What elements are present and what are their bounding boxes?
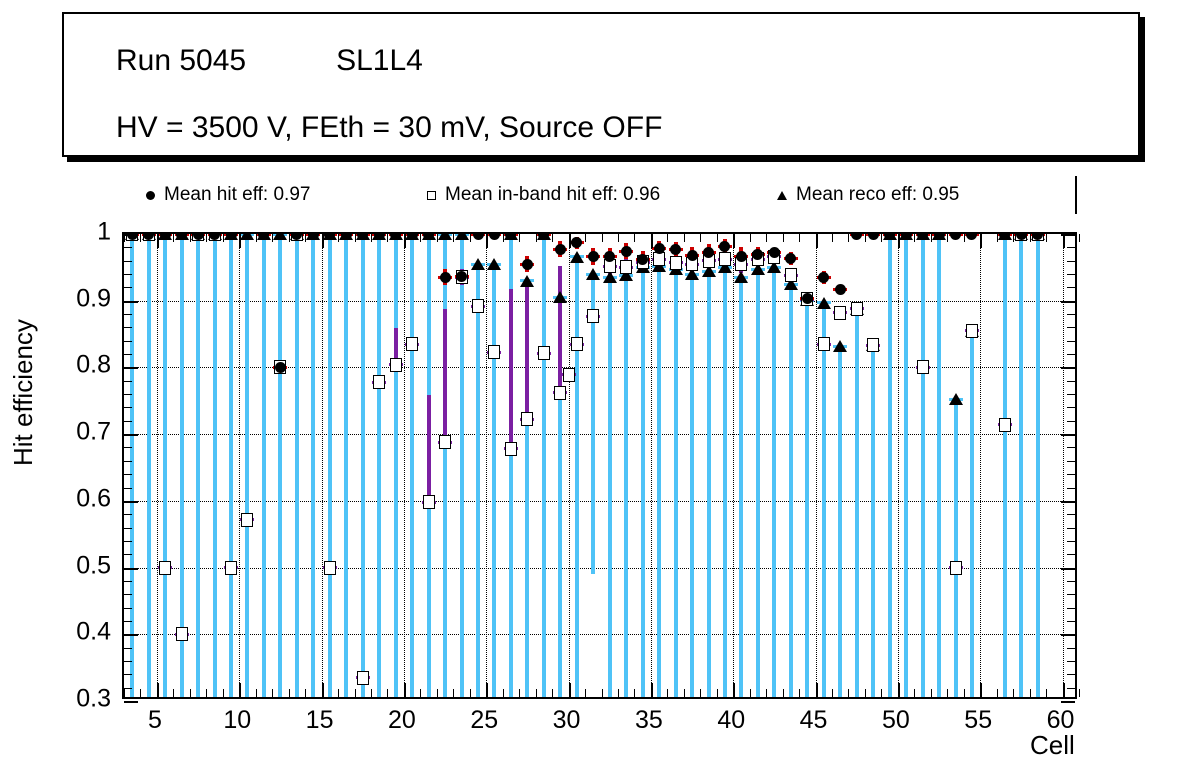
x-axis-minor-tick bbox=[1046, 689, 1047, 697]
x-axis-tick bbox=[651, 683, 653, 697]
error-bar-vertical bbox=[130, 234, 134, 697]
data-point-hit-eff bbox=[193, 234, 204, 240]
error-bar-vertical bbox=[525, 279, 529, 419]
x-axis-minor-tick bbox=[848, 689, 849, 697]
y-tick-label: 0.9 bbox=[76, 284, 111, 313]
y-axis-minor-tick bbox=[1067, 447, 1075, 448]
data-point-hit-eff bbox=[588, 251, 599, 262]
y-axis-minor-tick bbox=[124, 488, 132, 489]
gridline-vertical bbox=[1063, 234, 1064, 697]
x-axis-tick bbox=[733, 683, 735, 697]
y-axis-tick bbox=[1061, 568, 1075, 570]
data-point-inband-eff bbox=[357, 671, 369, 685]
y-axis-minor-tick bbox=[124, 407, 132, 408]
x-axis-minor-tick bbox=[453, 689, 454, 697]
x-axis-tick bbox=[1063, 234, 1065, 248]
error-bar-vertical bbox=[937, 234, 941, 697]
x-axis-minor-tick bbox=[964, 234, 965, 242]
y-axis-minor-tick bbox=[1067, 314, 1075, 315]
data-point-inband-eff bbox=[241, 513, 253, 527]
data-point-hit-eff bbox=[226, 234, 237, 240]
x-axis-minor-tick bbox=[799, 234, 800, 242]
y-axis-minor-tick bbox=[1067, 688, 1075, 689]
y-axis-minor-tick bbox=[124, 274, 132, 275]
data-point-reco-eff bbox=[586, 268, 600, 280]
y-axis-minor-tick bbox=[124, 528, 132, 529]
data-point-hit-eff bbox=[851, 234, 862, 240]
x-axis-minor-tick bbox=[947, 689, 948, 697]
y-axis-minor-tick bbox=[124, 341, 132, 342]
gridline-horizontal bbox=[124, 501, 1075, 502]
error-bar-vertical bbox=[344, 234, 348, 697]
data-point-inband-eff bbox=[563, 368, 575, 382]
error-bar-vertical bbox=[443, 309, 447, 442]
y-axis-minor-tick bbox=[1067, 421, 1075, 422]
x-axis-minor-tick bbox=[453, 234, 454, 242]
error-bar-vertical bbox=[756, 269, 760, 697]
title-box: Run 5045SL1L4 HV = 3500 V, FEth = 30 mV,… bbox=[62, 12, 1140, 157]
data-point-hit-eff bbox=[950, 234, 961, 240]
x-axis-minor-tick bbox=[881, 689, 882, 697]
open-square-icon bbox=[419, 185, 445, 205]
data-point-inband-eff bbox=[653, 252, 665, 266]
x-axis-minor-tick bbox=[206, 689, 207, 697]
x-tick-label: 40 bbox=[717, 706, 745, 735]
data-point-reco-eff bbox=[570, 251, 584, 263]
x-axis-minor-tick bbox=[1013, 234, 1014, 242]
y-axis-tick bbox=[1061, 367, 1075, 369]
y-axis-tick bbox=[124, 634, 138, 636]
error-bar-vertical bbox=[492, 264, 496, 697]
error-bar-vertical bbox=[147, 234, 151, 697]
y-axis-minor-tick bbox=[1067, 247, 1075, 248]
y-axis-minor-tick bbox=[1067, 461, 1075, 462]
y-axis-minor-tick bbox=[1067, 474, 1075, 475]
x-axis-minor-tick bbox=[667, 689, 668, 697]
error-bar-vertical bbox=[361, 234, 365, 697]
y-axis-tick bbox=[124, 568, 138, 570]
x-axis-minor-tick bbox=[602, 234, 603, 242]
data-point-inband-eff bbox=[324, 561, 336, 575]
y-axis-minor-tick bbox=[1067, 648, 1075, 649]
y-axis-minor-tick bbox=[1067, 594, 1075, 595]
y-axis-minor-tick bbox=[1067, 394, 1075, 395]
x-axis-minor-tick bbox=[124, 234, 125, 242]
error-bar-vertical bbox=[608, 277, 612, 697]
x-axis-minor-tick bbox=[289, 234, 290, 242]
y-axis-tick bbox=[124, 501, 138, 503]
x-axis-minor-tick bbox=[355, 234, 356, 242]
x-axis-tick bbox=[239, 683, 241, 697]
x-axis-minor-tick bbox=[552, 689, 553, 697]
gridline-vertical bbox=[651, 234, 652, 697]
error-bar-vertical bbox=[542, 234, 546, 697]
y-axis-minor-tick bbox=[1067, 341, 1075, 342]
data-point-inband-eff bbox=[390, 358, 402, 372]
error-bar-vertical bbox=[674, 269, 678, 697]
x-axis-minor-tick bbox=[914, 234, 915, 242]
error-bar-vertical bbox=[921, 234, 925, 697]
x-tick-label: 45 bbox=[800, 706, 828, 735]
filled-triangle-icon bbox=[770, 185, 796, 205]
y-axis-minor-tick bbox=[1067, 528, 1075, 529]
error-bar-vertical bbox=[1003, 234, 1007, 697]
y-axis-minor-tick bbox=[124, 541, 132, 542]
y-axis-tick bbox=[1061, 434, 1075, 436]
x-axis-tick bbox=[569, 683, 571, 697]
gridline-vertical bbox=[322, 234, 323, 697]
x-axis-minor-tick bbox=[783, 234, 784, 242]
x-axis-minor-tick bbox=[519, 689, 520, 697]
legend-label-inband-eff: Mean in-band hit eff: 0.96 bbox=[445, 184, 660, 206]
y-axis-minor-tick bbox=[1067, 674, 1075, 675]
data-point-hit-eff bbox=[275, 362, 286, 373]
gridline-horizontal bbox=[124, 634, 1075, 635]
x-axis-minor-tick bbox=[585, 234, 586, 242]
x-axis-minor-tick bbox=[190, 234, 191, 242]
gridline-vertical bbox=[486, 234, 487, 697]
x-axis-minor-tick bbox=[223, 234, 224, 242]
x-axis-minor-tick bbox=[437, 234, 438, 242]
x-axis-minor-tick bbox=[470, 689, 471, 697]
data-point-hit-eff bbox=[719, 241, 730, 252]
gridline-vertical bbox=[569, 234, 570, 697]
data-point-hit-eff bbox=[621, 246, 632, 257]
gridline-vertical bbox=[733, 234, 734, 697]
x-axis-tick bbox=[404, 683, 406, 697]
legend: Mean hit eff: 0.97 Mean in-band hit eff:… bbox=[122, 176, 1077, 214]
error-bar-vertical bbox=[229, 234, 233, 697]
data-point-inband-eff bbox=[472, 299, 484, 313]
y-axis-minor-tick bbox=[1067, 621, 1075, 622]
x-axis-minor-tick bbox=[355, 689, 356, 697]
superlayer-label: SL1L4 bbox=[336, 44, 423, 77]
gridline-horizontal bbox=[124, 434, 1075, 435]
x-axis-minor-tick bbox=[305, 689, 306, 697]
x-tick-label: 55 bbox=[964, 706, 992, 735]
data-point-inband-eff bbox=[834, 306, 846, 320]
y-tick-label: 0.6 bbox=[76, 484, 111, 513]
y-axis-minor-tick bbox=[124, 581, 132, 582]
x-axis-tick bbox=[157, 683, 159, 697]
data-point-hit-eff bbox=[440, 272, 451, 283]
y-tick-label: 0.3 bbox=[76, 685, 111, 714]
y-axis-title: Hit efficiency bbox=[8, 319, 39, 466]
x-axis-minor-tick bbox=[750, 689, 751, 697]
x-axis-minor-tick bbox=[223, 689, 224, 697]
y-axis-minor-tick bbox=[124, 514, 132, 515]
x-axis-tick bbox=[816, 234, 818, 248]
x-axis-minor-tick bbox=[437, 689, 438, 697]
y-axis-minor-tick bbox=[1067, 554, 1075, 555]
y-axis-minor-tick bbox=[124, 661, 132, 662]
y-axis-minor-tick bbox=[124, 461, 132, 462]
x-axis-minor-tick bbox=[783, 689, 784, 697]
y-axis-minor-tick bbox=[1067, 261, 1075, 262]
error-bar-vertical bbox=[805, 300, 809, 697]
run-label: Run 5045 bbox=[116, 44, 246, 77]
error-bar-vertical bbox=[772, 267, 776, 697]
plot-area bbox=[124, 234, 1075, 697]
filled-circle-icon bbox=[138, 185, 164, 205]
y-axis-minor-tick bbox=[124, 674, 132, 675]
x-axis-minor-tick bbox=[387, 689, 388, 697]
data-point-reco-eff bbox=[603, 271, 617, 283]
data-point-hit-eff bbox=[654, 243, 665, 254]
x-axis-minor-tick bbox=[1030, 234, 1031, 242]
y-axis-minor-tick bbox=[124, 314, 132, 315]
x-axis-minor-tick bbox=[931, 234, 932, 242]
data-point-hit-eff bbox=[160, 234, 171, 240]
y-axis-minor-tick bbox=[124, 247, 132, 248]
x-axis-minor-tick bbox=[717, 689, 718, 697]
x-axis-minor-tick bbox=[536, 689, 537, 697]
error-bar-vertical bbox=[295, 234, 299, 697]
plot-frame bbox=[122, 232, 1077, 699]
x-axis-tick bbox=[157, 234, 159, 248]
data-point-hit-eff bbox=[571, 237, 582, 248]
y-tick-label: 0.7 bbox=[76, 418, 111, 447]
x-axis-minor-tick bbox=[420, 234, 421, 242]
data-point-inband-eff bbox=[538, 346, 550, 360]
y-axis-minor-tick bbox=[124, 648, 132, 649]
x-axis-minor-tick bbox=[338, 234, 339, 242]
error-bar-vertical bbox=[822, 303, 826, 697]
gridline-vertical bbox=[404, 234, 405, 697]
data-point-reco-eff bbox=[240, 234, 254, 240]
error-bar-vertical bbox=[575, 257, 579, 697]
y-axis-minor-tick bbox=[1067, 274, 1075, 275]
x-axis-minor-tick bbox=[1013, 689, 1014, 697]
y-axis-minor-tick bbox=[124, 594, 132, 595]
error-bar-vertical bbox=[1036, 234, 1040, 697]
data-point-reco-eff bbox=[273, 234, 287, 240]
y-axis-minor-tick bbox=[1067, 581, 1075, 582]
error-bar-vertical bbox=[196, 234, 200, 697]
gridline-vertical bbox=[980, 234, 981, 697]
x-axis-minor-tick bbox=[256, 689, 257, 697]
data-point-hit-eff bbox=[818, 272, 829, 283]
x-axis-minor-tick bbox=[766, 689, 767, 697]
y-axis-tick bbox=[1061, 634, 1075, 636]
data-point-inband-eff bbox=[999, 418, 1011, 432]
data-point-reco-eff bbox=[487, 258, 501, 270]
y-axis-minor-tick bbox=[1067, 354, 1075, 355]
x-axis-minor-tick bbox=[667, 234, 668, 242]
x-axis-minor-tick bbox=[865, 234, 866, 242]
x-axis-minor-tick bbox=[190, 689, 191, 697]
x-axis-minor-tick bbox=[766, 234, 767, 242]
data-point-reco-eff bbox=[734, 271, 748, 283]
y-axis-tick bbox=[124, 367, 138, 369]
x-axis-minor-tick bbox=[997, 234, 998, 242]
error-bar-vertical bbox=[690, 274, 694, 697]
x-axis-minor-tick bbox=[503, 689, 504, 697]
error-bar-vertical bbox=[855, 309, 859, 697]
data-point-hit-eff bbox=[785, 253, 796, 264]
x-axis-minor-tick bbox=[700, 234, 701, 242]
data-point-reco-eff bbox=[949, 393, 963, 405]
data-point-inband-eff bbox=[488, 345, 500, 359]
y-axis-minor-tick bbox=[124, 554, 132, 555]
error-bar-vertical bbox=[723, 267, 727, 697]
x-axis-minor-tick bbox=[289, 689, 290, 697]
x-axis-minor-tick bbox=[140, 234, 141, 242]
y-axis-minor-tick bbox=[1067, 381, 1075, 382]
data-point-inband-eff bbox=[571, 337, 583, 351]
error-bar-vertical bbox=[657, 266, 661, 697]
y-tick-label: 0.4 bbox=[76, 618, 111, 647]
x-axis-tick bbox=[486, 683, 488, 697]
x-tick-label: 5 bbox=[148, 706, 162, 735]
x-axis-minor-tick bbox=[173, 234, 174, 242]
y-axis-tick bbox=[124, 234, 138, 236]
y-axis-minor-tick bbox=[124, 621, 132, 622]
data-point-inband-eff bbox=[917, 360, 929, 374]
x-axis-tick bbox=[980, 683, 982, 697]
x-axis-tick bbox=[569, 234, 571, 248]
x-axis-minor-tick bbox=[173, 689, 174, 697]
y-axis-tick bbox=[1061, 501, 1075, 503]
x-axis-minor-tick bbox=[750, 234, 751, 242]
conditions-label: HV = 3500 V, FEth = 30 mV, Source OFF bbox=[116, 111, 662, 145]
data-point-hit-eff bbox=[802, 293, 813, 304]
data-point-reco-eff bbox=[455, 234, 469, 240]
y-axis-minor-tick bbox=[1067, 661, 1075, 662]
error-bar-vertical bbox=[789, 284, 793, 697]
error-bar-vertical bbox=[427, 395, 431, 502]
data-point-hit-eff bbox=[901, 234, 912, 240]
data-point-inband-eff bbox=[950, 561, 962, 575]
x-axis-minor-tick bbox=[206, 234, 207, 242]
data-point-hit-eff bbox=[637, 254, 648, 265]
y-axis-minor-tick bbox=[124, 261, 132, 262]
data-point-inband-eff bbox=[620, 260, 632, 274]
x-axis-minor-tick bbox=[684, 689, 685, 697]
y-axis-minor-tick bbox=[124, 354, 132, 355]
data-point-inband-eff bbox=[176, 627, 188, 641]
x-tick-label: 10 bbox=[223, 706, 251, 735]
error-bar-vertical bbox=[970, 331, 974, 697]
data-point-inband-eff bbox=[439, 435, 451, 449]
x-axis-minor-tick bbox=[1079, 689, 1080, 697]
x-axis-tick bbox=[322, 683, 324, 697]
x-axis-minor-tick bbox=[1079, 234, 1080, 242]
error-bar-vertical bbox=[904, 234, 908, 697]
x-axis-minor-tick bbox=[371, 234, 372, 242]
error-bar-vertical bbox=[954, 399, 958, 697]
x-tick-label: 50 bbox=[882, 706, 910, 735]
data-point-inband-eff bbox=[587, 309, 599, 323]
data-point-inband-eff bbox=[867, 338, 879, 352]
legend-label-hit-eff: Mean hit eff: 0.97 bbox=[164, 184, 310, 206]
x-axis-tick bbox=[898, 234, 900, 248]
error-bar-vertical bbox=[443, 234, 447, 697]
error-bar-vertical bbox=[509, 289, 513, 449]
x-axis-tick bbox=[486, 234, 488, 248]
x-axis-minor-tick bbox=[602, 689, 603, 697]
error-bar-vertical bbox=[624, 275, 628, 697]
x-axis-minor-tick bbox=[832, 234, 833, 242]
error-bar-vertical bbox=[328, 234, 332, 697]
data-point-inband-eff bbox=[159, 561, 171, 575]
y-axis-minor-tick bbox=[124, 327, 132, 328]
data-point-inband-eff bbox=[225, 561, 237, 575]
x-tick-label: 20 bbox=[388, 706, 416, 735]
x-axis-tick bbox=[898, 683, 900, 697]
x-axis-tick bbox=[733, 234, 735, 248]
x-axis-minor-tick bbox=[865, 689, 866, 697]
y-axis-minor-tick bbox=[1067, 327, 1075, 328]
legend-entry-reco-eff: Mean reco eff: 0.95 bbox=[770, 176, 959, 214]
y-axis-tick bbox=[1061, 301, 1075, 303]
y-axis-minor-tick bbox=[1067, 514, 1075, 515]
x-axis-minor-tick bbox=[338, 689, 339, 697]
data-point-inband-eff bbox=[785, 268, 797, 282]
x-axis-minor-tick bbox=[503, 234, 504, 242]
x-tick-label: 15 bbox=[306, 706, 334, 735]
plot-canvas: Run 5045SL1L4 HV = 3500 V, FEth = 30 mV,… bbox=[0, 0, 1196, 772]
x-axis-minor-tick bbox=[305, 234, 306, 242]
data-point-reco-eff bbox=[438, 234, 452, 240]
title-line-1: Run 5045SL1L4 bbox=[116, 44, 423, 78]
x-axis-minor-tick bbox=[997, 689, 998, 697]
x-axis-minor-tick bbox=[420, 689, 421, 697]
gridline-horizontal bbox=[124, 301, 1075, 302]
data-point-hit-eff bbox=[835, 284, 846, 295]
x-axis-minor-tick bbox=[272, 234, 273, 242]
y-axis-minor-tick bbox=[1067, 541, 1075, 542]
gridline-vertical bbox=[239, 234, 240, 697]
y-axis-minor-tick bbox=[124, 394, 132, 395]
data-point-reco-eff bbox=[833, 340, 847, 352]
x-axis-minor-tick bbox=[371, 689, 372, 697]
error-bar-vertical bbox=[278, 234, 282, 697]
data-point-inband-eff bbox=[505, 442, 517, 456]
data-point-reco-eff bbox=[471, 258, 485, 270]
x-tick-label: 30 bbox=[553, 706, 581, 735]
y-axis-minor-tick bbox=[124, 421, 132, 422]
data-point-reco-eff bbox=[553, 291, 567, 303]
y-axis-minor-tick bbox=[124, 447, 132, 448]
x-axis-tick bbox=[816, 683, 818, 697]
x-axis-minor-tick bbox=[1046, 234, 1047, 242]
y-tick-label: 0.8 bbox=[76, 351, 111, 380]
data-point-hit-eff bbox=[966, 234, 977, 240]
data-point-hit-eff bbox=[489, 234, 500, 240]
data-point-hit-eff bbox=[687, 250, 698, 261]
x-axis-tick bbox=[322, 234, 324, 248]
x-tick-label: 35 bbox=[635, 706, 663, 735]
x-axis-tick bbox=[1063, 683, 1065, 697]
x-axis-minor-tick bbox=[387, 234, 388, 242]
x-axis-minor-tick bbox=[881, 234, 882, 242]
x-axis-tick bbox=[980, 234, 982, 248]
data-point-inband-eff bbox=[670, 256, 682, 270]
error-bar-vertical bbox=[394, 234, 398, 697]
x-axis-minor-tick bbox=[552, 234, 553, 242]
y-axis-minor-tick bbox=[124, 381, 132, 382]
y-axis-minor-tick bbox=[124, 287, 132, 288]
data-point-inband-eff bbox=[966, 324, 978, 338]
x-axis-minor-tick bbox=[799, 689, 800, 697]
error-bar-vertical bbox=[888, 234, 892, 697]
x-axis-minor-tick bbox=[634, 234, 635, 242]
data-point-hit-eff bbox=[703, 247, 714, 258]
y-tick-label: 1 bbox=[97, 218, 111, 247]
error-bar-vertical bbox=[641, 267, 645, 697]
x-axis-tick bbox=[239, 234, 241, 248]
